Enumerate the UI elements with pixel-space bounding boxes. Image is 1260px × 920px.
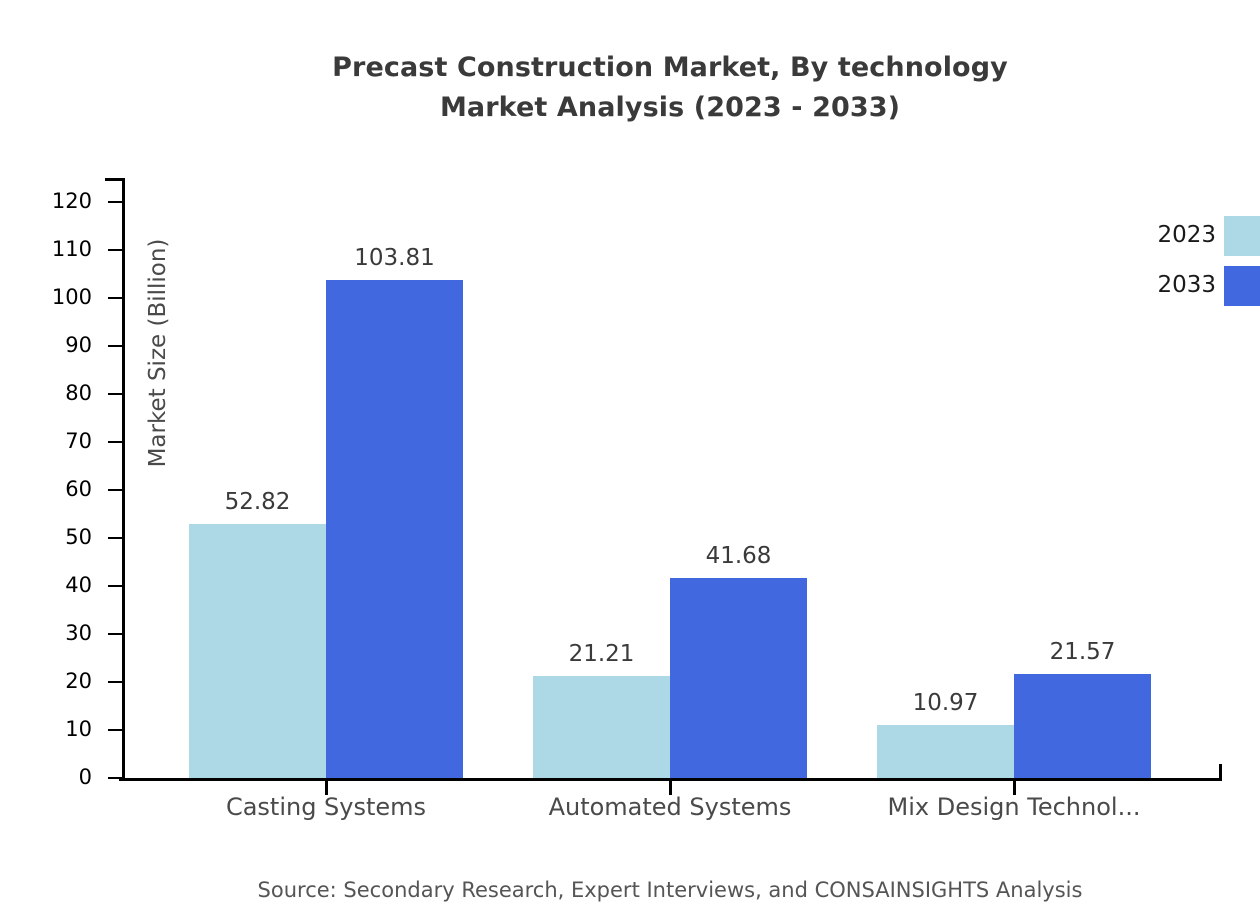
- y-tick-label: 60: [0, 479, 92, 500]
- y-axis-spine: [122, 178, 125, 781]
- y-tick-mark: [108, 345, 122, 347]
- bar-value-label: 41.68: [619, 543, 859, 569]
- y-tick-mark: [108, 777, 122, 779]
- y-tick-label: 100: [0, 287, 92, 308]
- bar-2023-1[interactable]: [189, 524, 326, 778]
- y-axis-title: Market Size (Billion): [145, 213, 171, 493]
- bar-2023-2[interactable]: [533, 676, 670, 778]
- bar-2033-2[interactable]: [670, 578, 807, 778]
- y-tick-mark: [108, 201, 122, 203]
- y-tick-label: 120: [0, 191, 92, 212]
- legend-label: 2033: [1130, 272, 1216, 298]
- legend-swatch: [1224, 216, 1260, 256]
- y-tick-mark: [108, 297, 122, 299]
- x-axis-end-cap: [1219, 764, 1222, 781]
- y-tick-label: 0: [0, 767, 92, 788]
- y-tick-mark: [108, 537, 122, 539]
- y-tick-mark: [108, 681, 122, 683]
- legend-item-2023[interactable]: 2023: [1130, 216, 1260, 256]
- y-tick-mark: [108, 729, 122, 731]
- bar-value-label: 21.57: [963, 639, 1203, 665]
- chart-legend: 20232033: [1130, 216, 1260, 308]
- y-tick-label: 90: [0, 335, 92, 356]
- y-axis-top-cap: [105, 178, 125, 181]
- bar-2033-1[interactable]: [326, 280, 463, 778]
- y-tick-mark: [108, 633, 122, 635]
- y-tick-label: 80: [0, 383, 92, 404]
- legend-label: 2023: [1130, 222, 1216, 248]
- y-tick-mark: [108, 489, 122, 491]
- chart-title: Precast Construction Market, By technolo…: [0, 48, 1260, 128]
- x-tick-label: Mix Design Technol...: [834, 793, 1194, 821]
- chart-title-line-2: Market Analysis (2023 - 2033): [0, 88, 1260, 128]
- y-tick-mark: [108, 393, 122, 395]
- y-tick-mark: [108, 585, 122, 587]
- source-note: Source: Secondary Research, Expert Inter…: [0, 878, 1260, 902]
- x-tick-label: Automated Systems: [490, 793, 850, 821]
- y-tick-mark: [108, 441, 122, 443]
- y-tick-label: 30: [0, 623, 92, 644]
- y-tick-label: 50: [0, 527, 92, 548]
- bar-2033-3[interactable]: [1014, 674, 1151, 778]
- y-tick-label: 70: [0, 431, 92, 452]
- legend-swatch: [1224, 266, 1260, 306]
- y-tick-label: 10: [0, 719, 92, 740]
- x-tick-label: Casting Systems: [146, 793, 506, 821]
- bar-value-label: 103.81: [275, 245, 515, 271]
- y-tick-label: 110: [0, 239, 92, 260]
- bar-2023-3[interactable]: [877, 725, 1014, 778]
- plot-area: 0102030405060708090100110120 Casting Sys…: [122, 178, 1222, 781]
- y-tick-label: 20: [0, 671, 92, 692]
- y-tick-label: 40: [0, 575, 92, 596]
- y-tick-mark: [108, 249, 122, 251]
- bar-chart-figure: Precast Construction Market, By technolo…: [0, 0, 1260, 920]
- legend-item-2033[interactable]: 2033: [1130, 266, 1260, 306]
- chart-title-line-1: Precast Construction Market, By technolo…: [0, 48, 1260, 88]
